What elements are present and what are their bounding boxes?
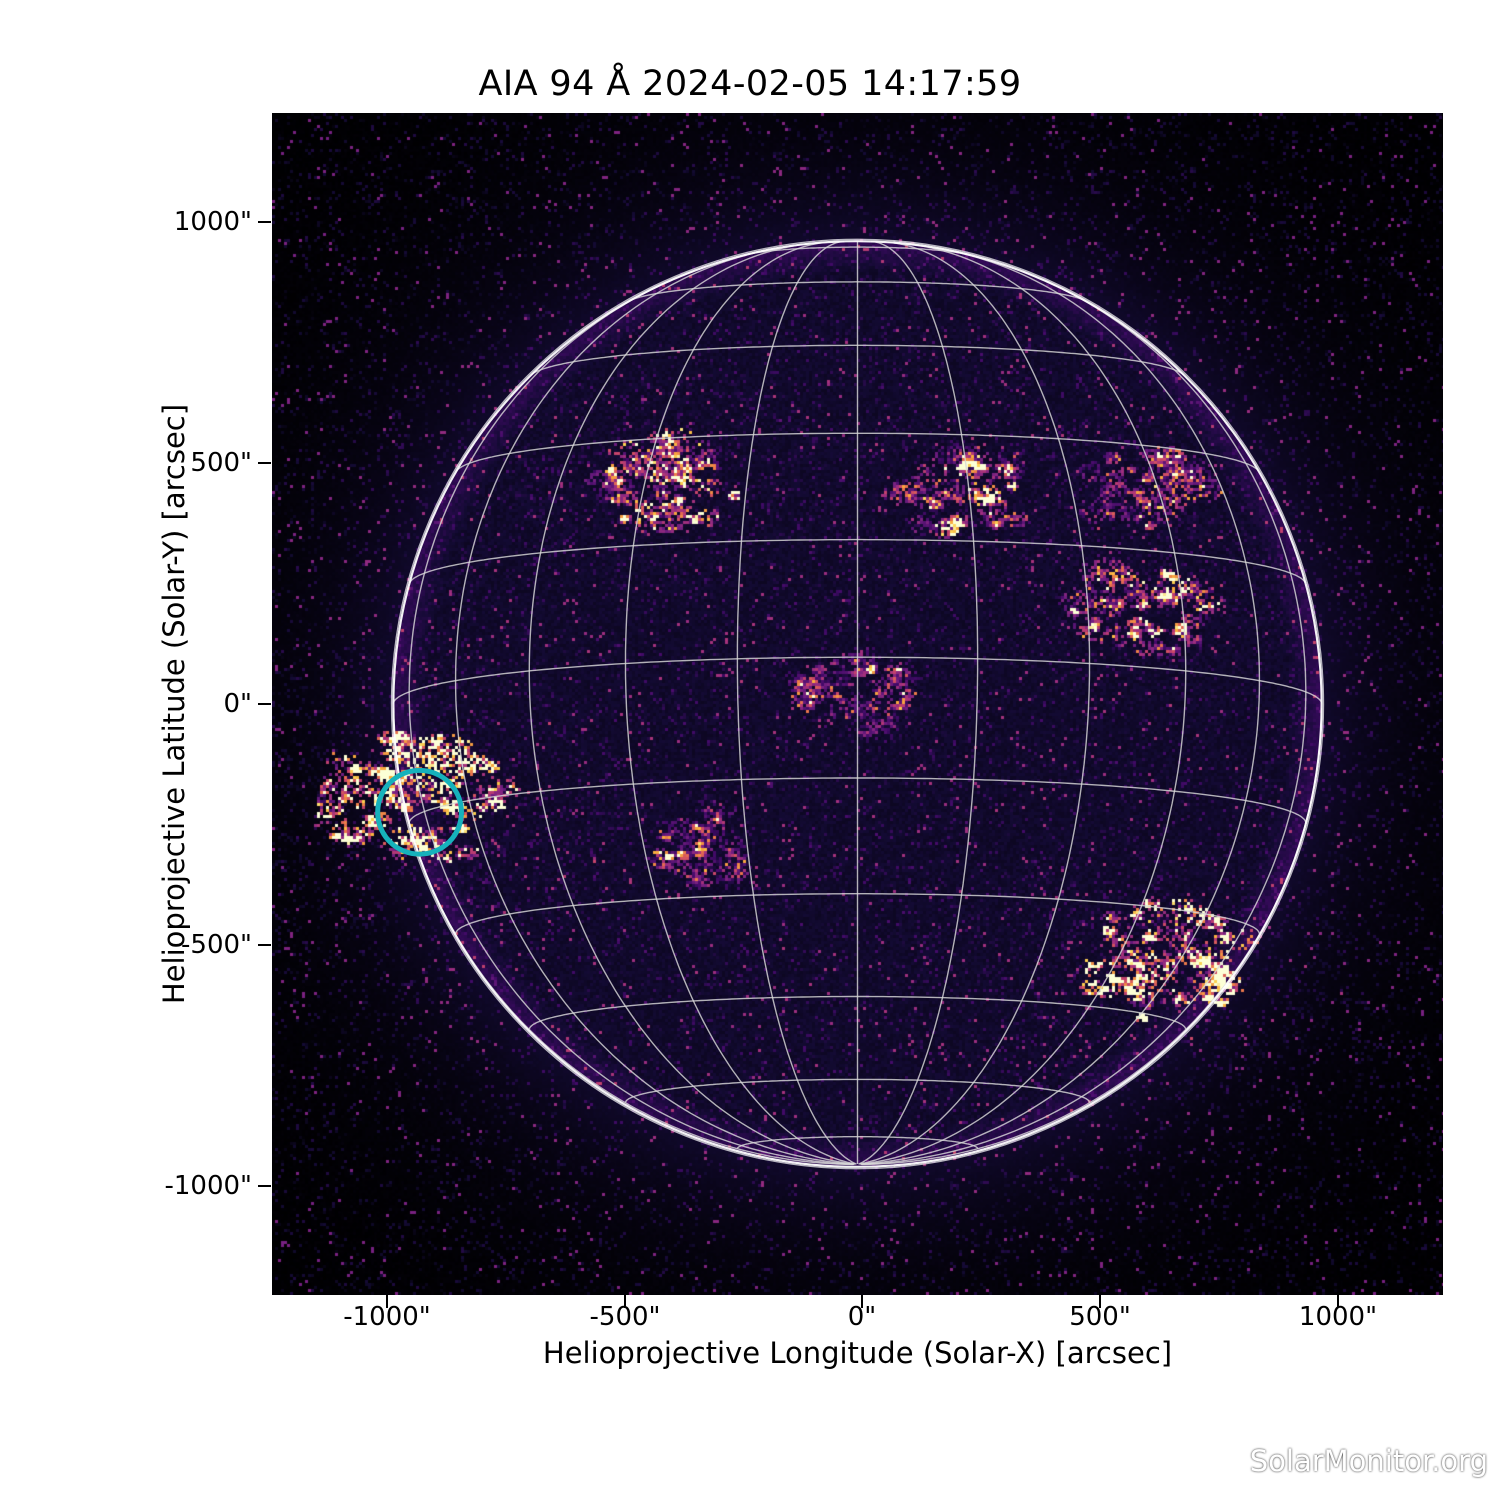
active-region-circle-annotation (378, 770, 462, 854)
x-tick-mark (624, 1295, 626, 1308)
y-tick-mark (258, 462, 271, 464)
y-axis-title: Helioprojective Latitude (Solar-Y) [arcs… (152, 113, 196, 1295)
page-title: AIA 94 Å 2024-02-05 14:17:59 (0, 64, 1500, 104)
y-tick-mark (258, 703, 271, 705)
figure-root: AIA 94 Å 2024-02-05 14:17:59 1000" 500" … (0, 0, 1500, 1500)
heliographic-grid-overlay (272, 113, 1443, 1295)
y-tick-label: 500" (190, 448, 252, 478)
y-tick-mark (258, 944, 271, 946)
x-tick-mark (1099, 1295, 1101, 1308)
y-tick-mark (258, 221, 271, 223)
solarmonitor-watermark: SolarMonitor.org (1250, 1444, 1488, 1478)
x-tick-mark (1337, 1295, 1339, 1308)
y-tick-mark (258, 1185, 271, 1187)
x-axis-title: Helioprojective Longitude (Solar-X) [arc… (272, 1336, 1443, 1370)
plot-area[interactable] (272, 113, 1443, 1295)
x-tick-mark (861, 1295, 863, 1308)
y-tick-label: 0" (223, 689, 252, 719)
x-tick-mark (386, 1295, 388, 1308)
